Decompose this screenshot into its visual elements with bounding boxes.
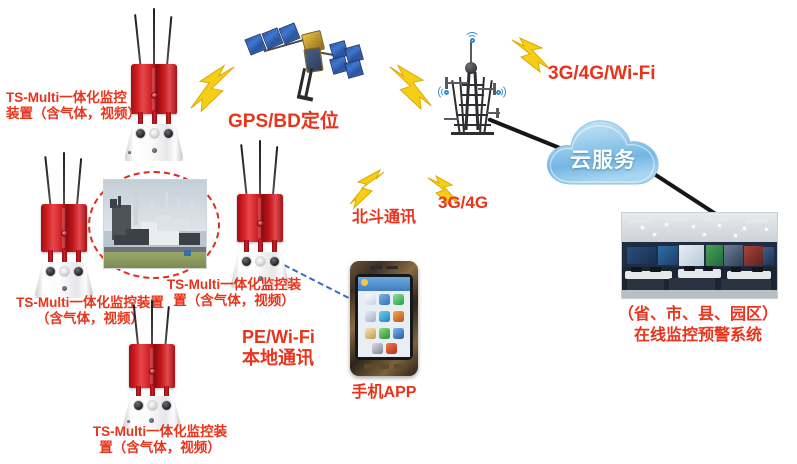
label-pe-wifi-local: PE/Wi-Fi 本地通讯 — [242, 327, 382, 369]
monitoring-device-mid-left — [22, 152, 104, 300]
cloud-service-label: 云服务 — [542, 144, 664, 174]
label-phone-app: 手机APP — [334, 383, 434, 403]
label-device-top-left: TS-Multi一体化监控 装置（含气体，视频） — [6, 90, 146, 123]
monitoring-device-bottom — [110, 300, 192, 426]
label-control-center: （省、市、县、园区） 在线监控预警系统 — [598, 305, 797, 347]
control-room-photo — [622, 213, 777, 298]
label-3g4g: 3G/4G — [438, 193, 528, 214]
label-device-bottom: TS-Multi一体化监控装 置（含气体，视频） — [70, 424, 250, 457]
monitoring-device-top-left — [112, 8, 194, 163]
signal-wave-right — [492, 84, 506, 100]
industrial-plant-photo — [104, 180, 206, 268]
diagram-canvas: 云服务 — [0, 0, 797, 464]
monitoring-device-mid-center — [218, 140, 300, 290]
cloud-service-node: 云服务 — [542, 112, 664, 188]
signal-wave-top — [462, 26, 482, 40]
label-gps-bd: GPS/BD定位 — [228, 110, 388, 133]
cell-tower-icon — [438, 22, 506, 146]
signal-wave-left — [438, 84, 452, 100]
satellite-icon — [245, 10, 370, 102]
label-3g4g-wifi: 3G/4G/Wi-Fi — [548, 62, 728, 85]
